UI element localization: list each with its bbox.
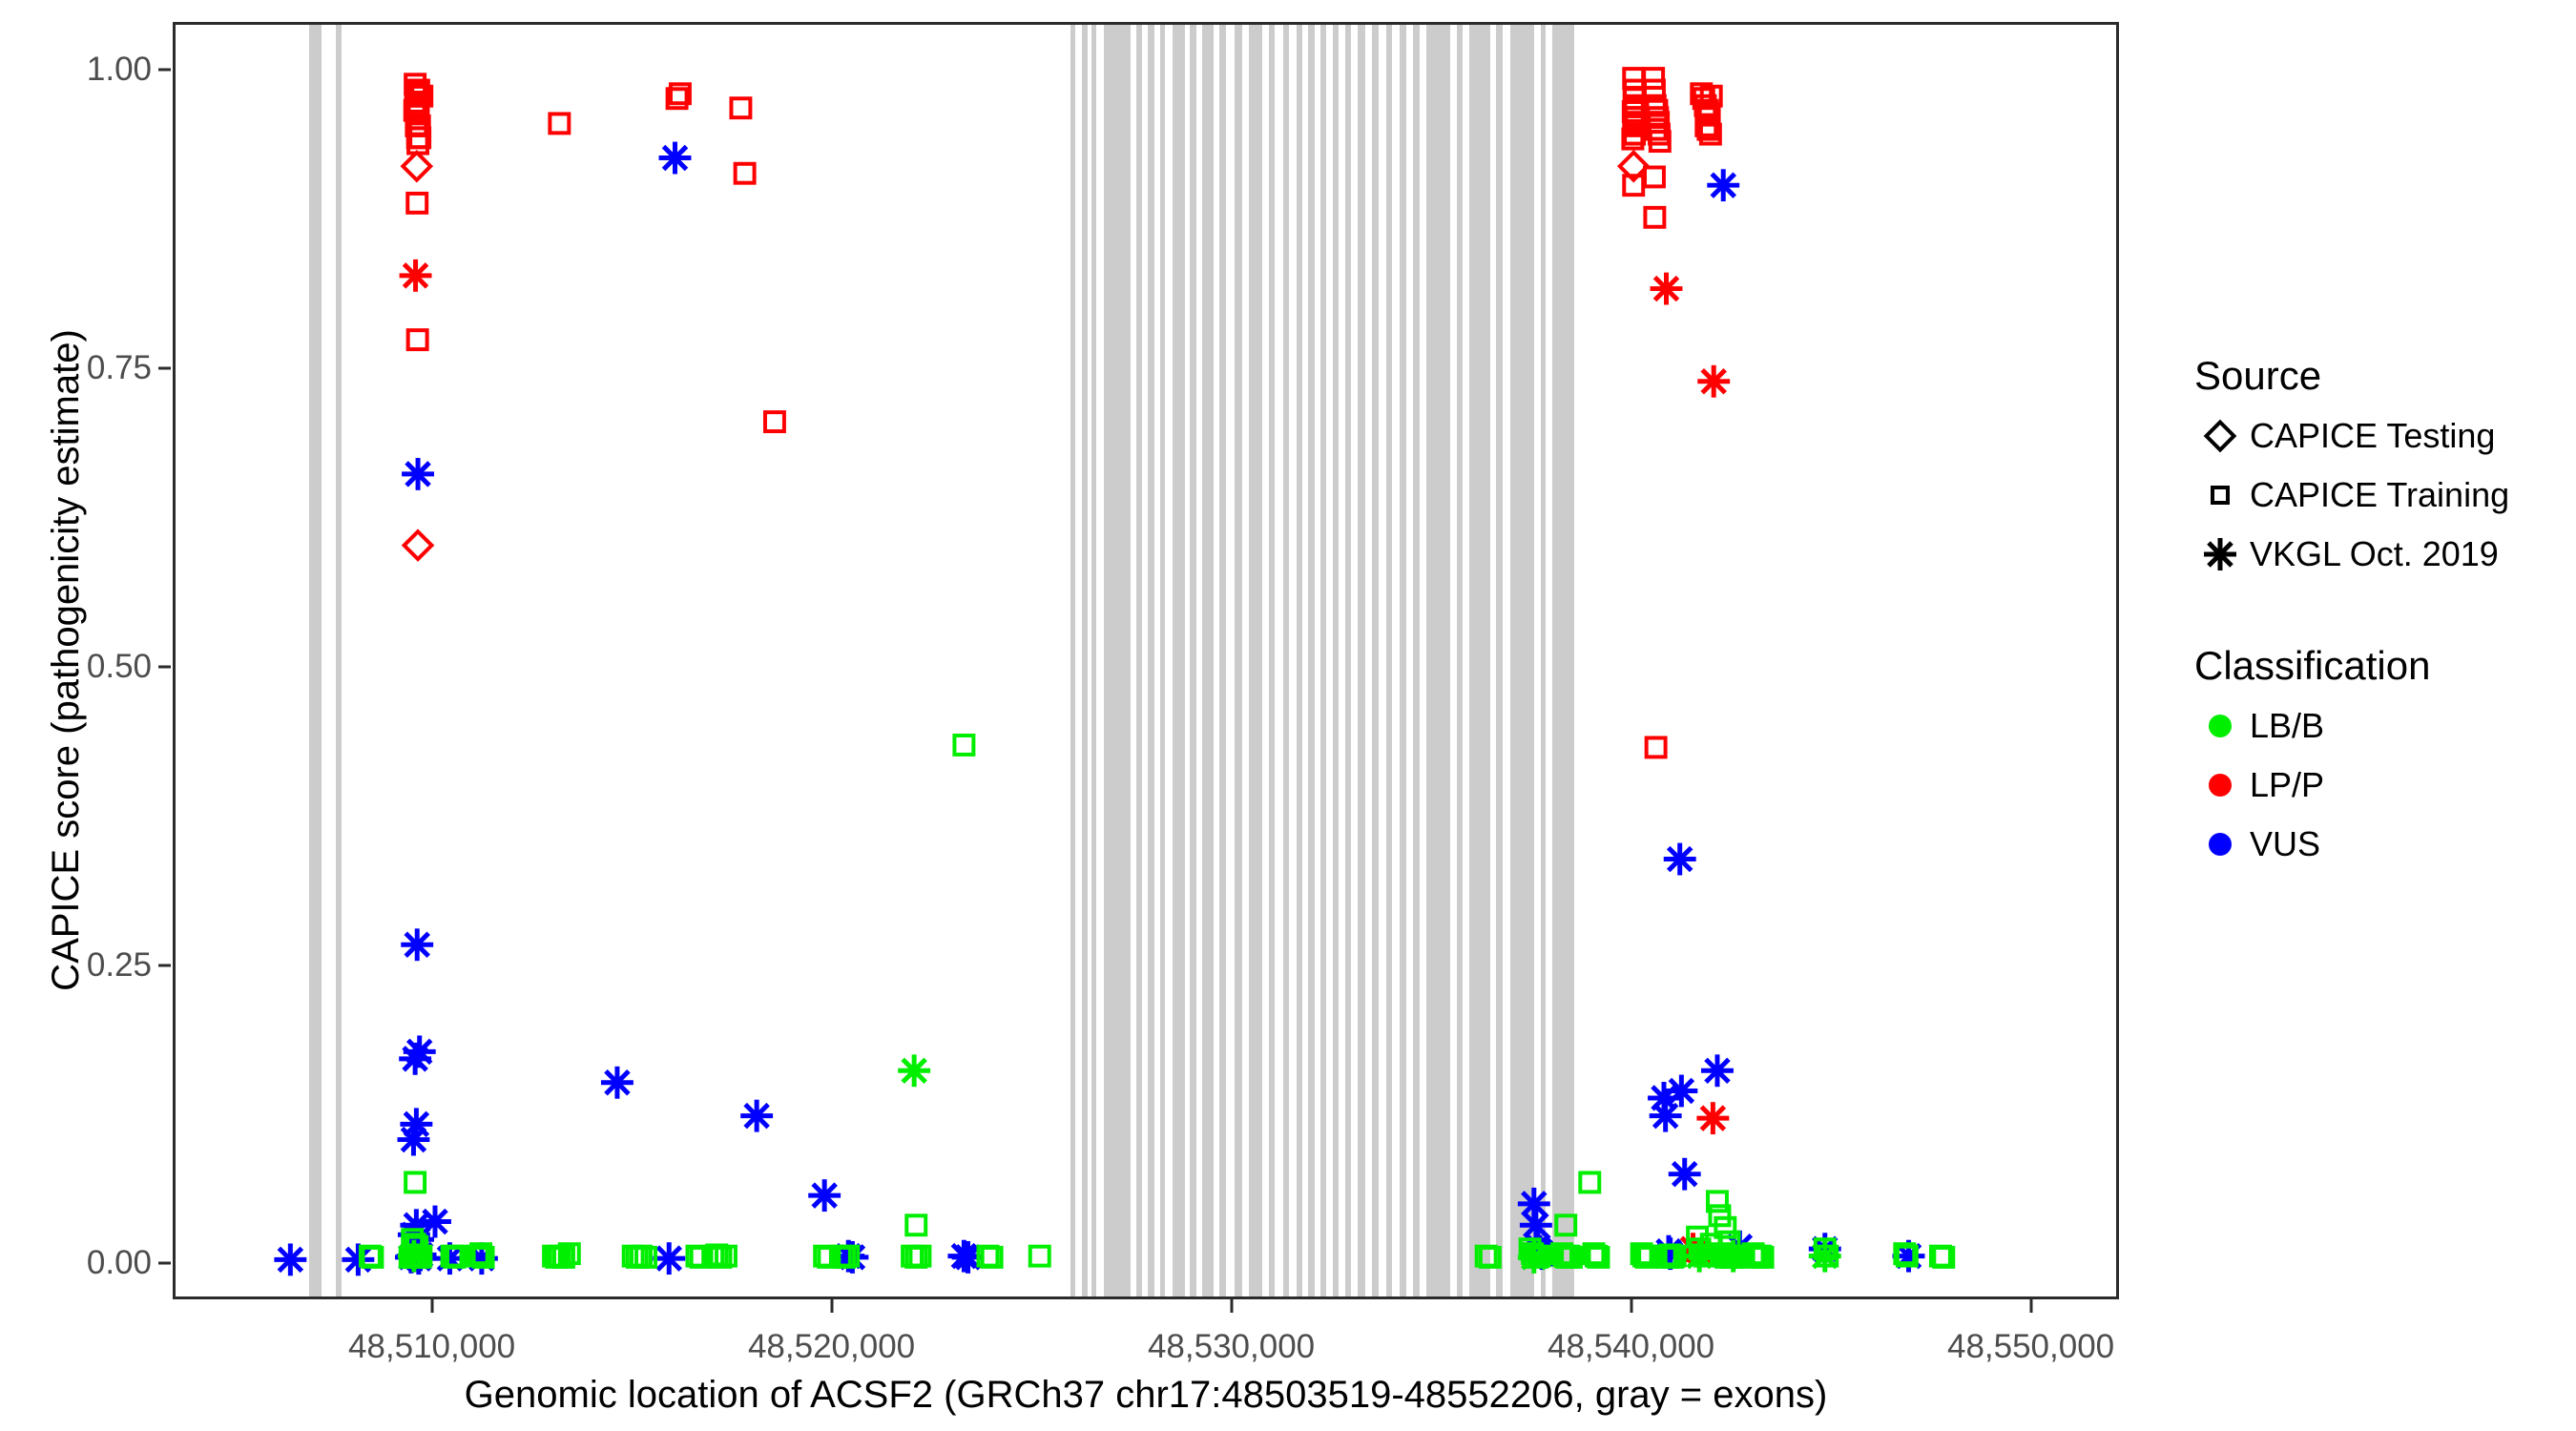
- color-swatch-icon: [2209, 774, 2232, 797]
- data-point-asterisk: [601, 1067, 634, 1099]
- asterisk-marker-icon: [2199, 533, 2241, 575]
- data-point-asterisk: [808, 1179, 841, 1212]
- legend-key: [2191, 474, 2250, 516]
- data-point-asterisk: [404, 1035, 436, 1068]
- square-marker-icon: [2199, 474, 2241, 516]
- y-tick-mark: [158, 964, 171, 966]
- data-point-asterisk: [1697, 365, 1730, 398]
- color-swatch-icon: [2209, 715, 2232, 737]
- legend-label: LB/B: [2250, 706, 2324, 746]
- data-point-asterisk: [1651, 273, 1683, 305]
- x-tick-mark: [830, 1299, 833, 1313]
- series-lp-p-capice-training: [405, 69, 1723, 1264]
- data-point-asterisk: [1665, 1075, 1697, 1108]
- data-point-square: [550, 114, 569, 133]
- data-point-square: [405, 1172, 425, 1192]
- data-point-asterisk: [1650, 1100, 1682, 1132]
- data-point-asterisk: [898, 1054, 930, 1087]
- x-tick-mark: [1630, 1299, 1632, 1313]
- legend-title-source: Source: [2194, 353, 2572, 399]
- data-point-square: [1647, 737, 1666, 757]
- data-point-diamond: [405, 531, 432, 559]
- x-tick-label: 48,550,000: [1947, 1328, 2114, 1366]
- y-tick-mark: [158, 366, 171, 369]
- x-tick-mark: [2029, 1299, 2032, 1313]
- data-point-square: [1645, 208, 1664, 227]
- color-swatch-icon: [2209, 833, 2232, 856]
- data-point-square: [736, 164, 755, 183]
- legend-key: [2191, 715, 2250, 737]
- data-point-asterisk: [1664, 843, 1696, 876]
- series-lp-p-capice-testing: [403, 153, 1647, 559]
- legend-label: VKGL Oct. 2019: [2250, 534, 2499, 574]
- data-point-asterisk: [402, 458, 434, 490]
- data-point-asterisk: [400, 1108, 432, 1140]
- data-point-asterisk: [740, 1100, 773, 1132]
- legend-group-source: Source CAPICE TestingCAPICE TrainingVKGL…: [2191, 353, 2572, 584]
- data-point-square: [1580, 1172, 1599, 1192]
- data-point-asterisk: [1696, 1102, 1729, 1134]
- x-tick-label: 48,540,000: [1548, 1328, 1714, 1366]
- legend-label: CAPICE Training: [2250, 475, 2509, 515]
- series-vus-vkgl-oct-2019: [274, 142, 1924, 1276]
- chart-figure: 0.000.250.500.751.00 48,510,00048,520,00…: [0, 0, 2576, 1431]
- data-point-asterisk: [1701, 1054, 1734, 1087]
- y-tick-mark: [158, 665, 171, 668]
- legend-item-source-diamond[interactable]: CAPICE Testing: [2191, 406, 2572, 466]
- data-point-square: [1624, 69, 1643, 88]
- data-point-square: [1556, 1215, 1575, 1234]
- legend-item-classification-lb-b[interactable]: LB/B: [2191, 696, 2572, 756]
- x-tick-mark: [430, 1299, 433, 1313]
- data-point-asterisk: [400, 259, 432, 292]
- x-tick-label: 48,510,000: [348, 1328, 515, 1366]
- data-point-asterisk: [1809, 1240, 1841, 1273]
- data-point-square: [407, 194, 426, 213]
- data-point-asterisk: [2204, 538, 2236, 570]
- legend-key: [2191, 533, 2250, 575]
- legend-group-classification: Classification LB/BLP/PVUS: [2191, 643, 2572, 874]
- legend-item-classification-vus[interactable]: VUS: [2191, 815, 2572, 874]
- legend-item-source-square[interactable]: CAPICE Training: [2191, 466, 2572, 525]
- data-point-diamond: [2207, 423, 2234, 450]
- x-axis-title: Genomic location of ACSF2 (GRCh37 chr17:…: [173, 1374, 2119, 1417]
- data-point-asterisk: [274, 1243, 306, 1275]
- data-point-square: [765, 412, 784, 431]
- data-point-square: [1645, 168, 1664, 187]
- diamond-marker-icon: [2199, 415, 2241, 457]
- legend: Source CAPICE TestingCAPICE TrainingVKGL…: [2191, 353, 2572, 933]
- legend-label: CAPICE Testing: [2250, 416, 2495, 456]
- data-point-asterisk: [1669, 1158, 1701, 1191]
- data-point-asterisk: [653, 1242, 685, 1275]
- data-point-square: [408, 330, 427, 349]
- legend-key: [2191, 415, 2250, 457]
- data-point-asterisk: [1707, 169, 1739, 201]
- legend-label: VUS: [2250, 824, 2320, 864]
- legend-item-source-asterisk[interactable]: VKGL Oct. 2019: [2191, 525, 2572, 584]
- legend-key: [2191, 774, 2250, 797]
- data-point-square: [731, 98, 750, 117]
- legend-title-classification: Classification: [2194, 643, 2572, 689]
- data-point-square: [2212, 487, 2228, 503]
- data-point-diamond: [403, 153, 430, 180]
- legend-label: LP/P: [2250, 765, 2324, 805]
- y-axis-title: CAPICE score (pathogenicity estimate): [44, 21, 88, 1299]
- legend-rows-source: CAPICE TestingCAPICE TrainingVKGL Oct. 2…: [2191, 406, 2572, 584]
- data-point-square: [1644, 69, 1663, 88]
- series-lb-b-capice-training: [361, 736, 1953, 1267]
- data-point-square: [954, 736, 973, 755]
- data-point-square: [906, 1215, 925, 1234]
- data-point-asterisk: [659, 142, 692, 175]
- data-point-asterisk: [1717, 1240, 1750, 1273]
- x-tick-mark: [1230, 1299, 1233, 1313]
- data-point-asterisk: [401, 928, 433, 961]
- data-point-asterisk: [1518, 1241, 1550, 1274]
- data-point-asterisk: [398, 1240, 430, 1273]
- y-tick-mark: [158, 69, 171, 72]
- x-tick-label: 48,520,000: [748, 1328, 915, 1366]
- data-points-layer: [176, 25, 2116, 1296]
- series-lp-p-vkgl-oct-2019: [400, 259, 1731, 1265]
- legend-rows-classification: LB/BLP/PVUS: [2191, 696, 2572, 874]
- y-tick-mark: [158, 1262, 171, 1265]
- legend-item-classification-lp-p[interactable]: LP/P: [2191, 756, 2572, 815]
- plot-panel: [173, 22, 2119, 1299]
- x-tick-label: 48,530,000: [1148, 1328, 1315, 1366]
- data-point-square: [1030, 1247, 1049, 1266]
- legend-key: [2191, 833, 2250, 856]
- data-point-asterisk: [1683, 1240, 1715, 1273]
